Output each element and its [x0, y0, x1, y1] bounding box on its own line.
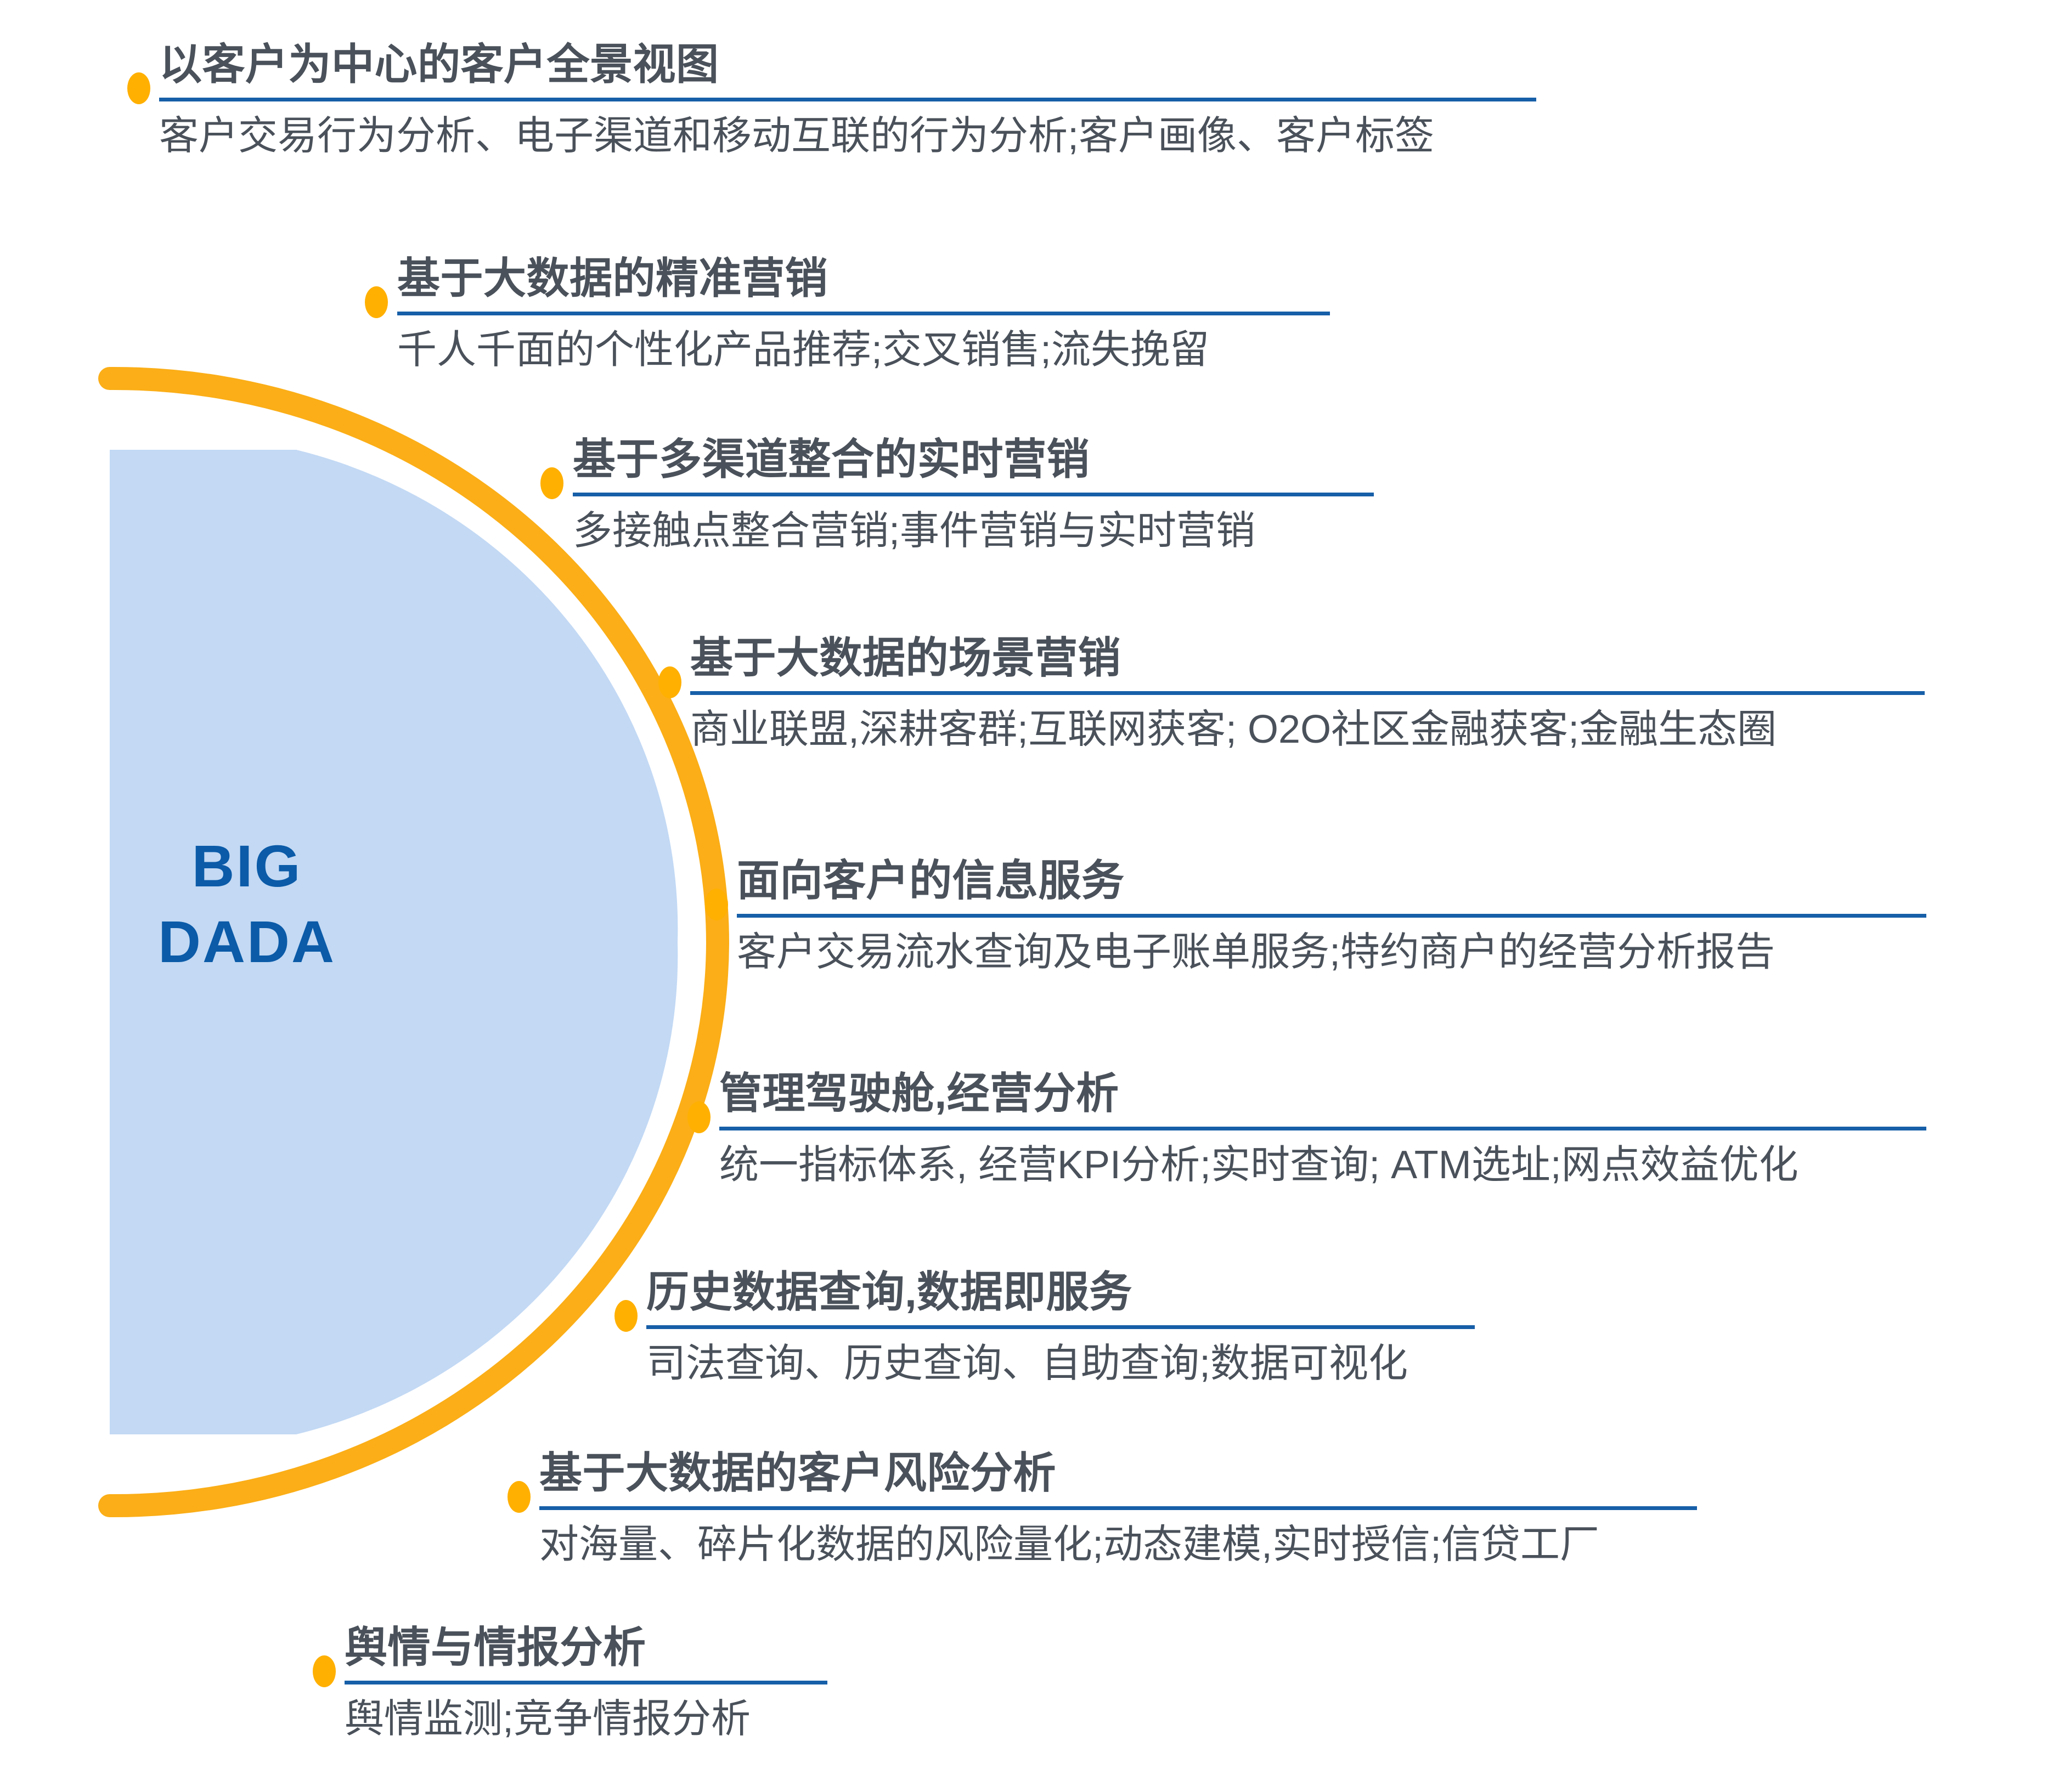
- row-title: 以客户为中心的客户全景视图: [159, 43, 1536, 87]
- row-body: 基于大数据的客户风险分析 对海量、碎片化数据的风险量化;动态建模,实时授信;信贷…: [539, 1451, 1697, 1565]
- row-title: 面向客户的信息服务: [737, 859, 1926, 903]
- row-rule: [719, 1127, 1926, 1130]
- row-rule: [646, 1325, 1475, 1329]
- row-body: 基于大数据的场景营销 商业联盟,深耕客群;互联网获客; O2O社区金融获客;金融…: [690, 636, 1925, 750]
- row-body: 舆情与情报分析 舆情监测;竞争情报分析: [345, 1626, 827, 1740]
- center-label-line2: DADA: [93, 904, 401, 980]
- row-body: 历史数据查询,数据即服务 司法查询、历史查询、自助查询;数据可视化: [646, 1270, 1475, 1384]
- row-title: 基于大数据的场景营销: [690, 636, 1925, 680]
- row-title: 管理驾驶舱,经营分析: [719, 1072, 1926, 1116]
- row-rule: [159, 98, 1536, 101]
- bullet-icon: [687, 1101, 711, 1133]
- row-rule: [345, 1681, 827, 1684]
- row-title: 基于多渠道整合的实时营销: [573, 438, 1374, 482]
- row-title: 历史数据查询,数据即服务: [646, 1270, 1475, 1314]
- bullet-icon: [508, 1481, 531, 1513]
- row-subtitle: 商业联盟,深耕客群;互联网获客; O2O社区金融获客;金融生态圈: [690, 709, 1925, 751]
- row-subtitle: 统一指标体系, 经营KPI分析;实时查询; ATM选址;网点效益优化: [719, 1145, 1926, 1186]
- row-subtitle: 舆情监测;竞争情报分析: [345, 1699, 827, 1740]
- bullet-icon: [127, 72, 150, 104]
- row-body: 面向客户的信息服务 客户交易流水查询及电子账单服务;特约商户的经营分析报告: [737, 859, 1926, 973]
- row-body: 基于大数据的精准营销 千人千面的个性化产品推荐;交叉销售;流失挽留: [397, 257, 1330, 371]
- row-body: 以客户为中心的客户全景视图 客户交易行为分析、电子渠道和移动互联的行为分析;客户…: [159, 43, 1536, 157]
- bullet-icon: [365, 286, 388, 318]
- row-subtitle: 多接触点整合营销;事件营销与实时营销: [573, 511, 1374, 552]
- row-rule: [690, 691, 1925, 695]
- row-rule: [737, 914, 1926, 918]
- row-subtitle: 客户交易行为分析、电子渠道和移动互联的行为分析;客户画像、客户标签: [159, 116, 1536, 157]
- row-rule: [397, 312, 1330, 315]
- row-rule: [539, 1506, 1697, 1510]
- bullet-icon: [705, 889, 728, 920]
- center-label: BIG DADA: [93, 828, 401, 980]
- bullet-icon: [614, 1300, 638, 1332]
- row-subtitle: 司法查询、历史查询、自助查询;数据可视化: [646, 1343, 1475, 1385]
- row-rule: [573, 493, 1374, 496]
- row-title: 基于大数据的客户风险分析: [539, 1451, 1697, 1495]
- row-subtitle: 对海量、碎片化数据的风险量化;动态建模,实时授信;信贷工厂: [539, 1524, 1697, 1566]
- row-subtitle: 千人千面的个性化产品推荐;交叉销售;流失挽留: [397, 330, 1330, 371]
- row-subtitle: 客户交易流水查询及电子账单服务;特约商户的经营分析报告: [737, 932, 1926, 974]
- row-title: 基于大数据的精准营销: [397, 257, 1330, 301]
- diagram-canvas: BIG DADA 以客户为中心的客户全景视图 客户交易行为分析、电子渠道和移动互…: [0, 0, 2058, 1792]
- row-body: 基于多渠道整合的实时营销 多接触点整合营销;事件营销与实时营销: [573, 438, 1374, 552]
- row-title: 舆情与情报分析: [345, 1626, 827, 1670]
- center-label-line1: BIG: [93, 828, 401, 904]
- bullet-icon: [313, 1655, 336, 1687]
- bullet-icon: [540, 467, 563, 499]
- bullet-icon: [658, 666, 681, 698]
- row-body: 管理驾驶舱,经营分析 统一指标体系, 经营KPI分析;实时查询; ATM选址;网…: [719, 1072, 1926, 1186]
